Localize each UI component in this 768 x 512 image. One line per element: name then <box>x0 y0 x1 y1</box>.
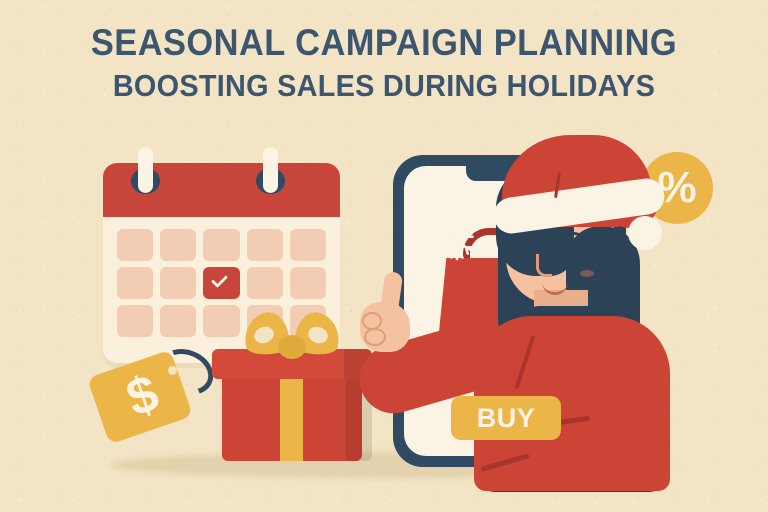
eyebrow-left <box>532 232 548 241</box>
calendar-day-cell <box>117 267 153 299</box>
heading-block: SEASONAL CAMPAIGN PLANNING BOOSTING SALE… <box>0 22 768 105</box>
calendar-day-cell <box>160 267 196 299</box>
page-subtitle: BOOSTING SALES DURING HOLIDAYS <box>27 67 741 105</box>
page-title: SEASONAL CAMPAIGN PLANNING <box>27 22 741 64</box>
knuckle-lower <box>364 328 386 346</box>
gift-bow-knot <box>278 335 306 359</box>
santa-hat-pompom <box>628 216 662 250</box>
calendar-day-cell <box>117 229 153 261</box>
calendar-day-cell <box>117 305 153 337</box>
price-tag: $ <box>92 352 212 444</box>
calendar-day-cell <box>203 229 239 261</box>
buy-button[interactable]: BUY <box>451 396 561 440</box>
calendar-ring-left-top <box>138 147 153 177</box>
calendar-day-cell <box>290 267 326 299</box>
calendar-marked-day-check-icon <box>203 267 239 299</box>
nose <box>536 254 552 277</box>
eye-right <box>570 244 579 256</box>
calendar-day-cell <box>247 229 283 261</box>
calendar-day-cell <box>290 229 326 261</box>
pointing-hand <box>356 272 416 354</box>
calendar-day-cell <box>160 305 196 337</box>
eyebrow-right <box>566 232 582 241</box>
cheek-blush <box>580 270 594 277</box>
poster-canvas: SEASONAL CAMPAIGN PLANNING BOOSTING SALE… <box>0 0 768 512</box>
calendar-day-cell <box>247 267 283 299</box>
calendar-day-cell <box>160 229 196 261</box>
calendar-ring-right-top <box>263 147 278 177</box>
